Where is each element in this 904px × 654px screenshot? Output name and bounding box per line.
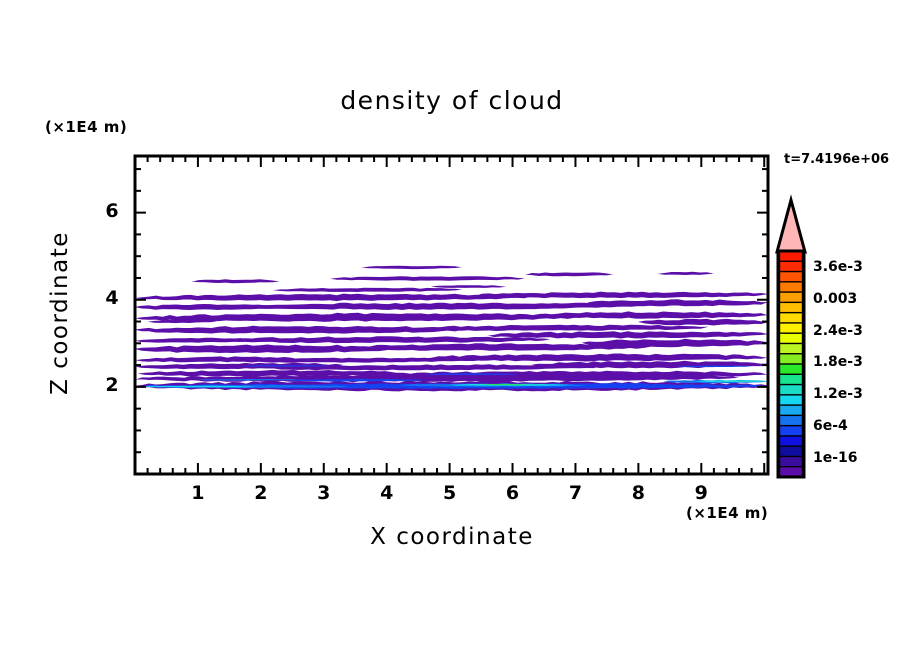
colorbar-band bbox=[780, 251, 803, 262]
x-tick-label: 8 bbox=[618, 482, 658, 504]
colorbar-band bbox=[780, 436, 803, 447]
x-tick-label: 2 bbox=[241, 482, 281, 504]
colorbar-label: 1.8e-3 bbox=[813, 354, 863, 370]
colorbar-arrow-icon bbox=[777, 200, 805, 252]
colorbar-label: 1.2e-3 bbox=[813, 386, 863, 402]
colorbar-band bbox=[780, 385, 803, 396]
colorbar bbox=[777, 200, 805, 478]
colorbar-band bbox=[780, 282, 803, 293]
colorbar-label: 1e-16 bbox=[813, 450, 858, 466]
colorbar-band bbox=[780, 343, 803, 354]
colorbar-band bbox=[780, 302, 803, 313]
colorbar-band bbox=[780, 395, 803, 406]
colorbar-band bbox=[780, 323, 803, 334]
x-tick-label: 9 bbox=[681, 482, 721, 504]
colorbar-band bbox=[780, 313, 803, 324]
colorbar-band bbox=[780, 292, 803, 303]
figure-canvas: density of cloud (×1E4 m) (×1E4 m) t=7.4… bbox=[0, 0, 904, 654]
colorbar-band bbox=[780, 364, 803, 375]
x-tick-label: 7 bbox=[555, 482, 595, 504]
colorbar-label: 0.003 bbox=[813, 291, 857, 307]
colorbar-band bbox=[780, 456, 803, 467]
y-tick-label: 4 bbox=[100, 287, 124, 309]
colorbar-band bbox=[780, 405, 803, 416]
y-tick-label: 6 bbox=[100, 200, 124, 222]
colorbar-band bbox=[780, 446, 803, 457]
x-tick-label: 1 bbox=[178, 482, 218, 504]
colorbar-label: 6e-4 bbox=[813, 418, 848, 434]
colorbar-band bbox=[780, 333, 803, 344]
x-tick-label: 4 bbox=[367, 482, 407, 504]
colorbar-band bbox=[780, 354, 803, 365]
plot-svg bbox=[0, 0, 904, 654]
colorbar-band bbox=[780, 272, 803, 283]
colorbar-band bbox=[780, 261, 803, 272]
colorbar-band bbox=[780, 374, 803, 385]
colorbar-band bbox=[780, 415, 803, 426]
colorbar-label: 2.4e-3 bbox=[813, 323, 863, 339]
y-tick-label: 2 bbox=[100, 374, 124, 396]
x-tick-label: 3 bbox=[304, 482, 344, 504]
colorbar-band bbox=[780, 426, 803, 437]
x-tick-label: 6 bbox=[493, 482, 533, 504]
x-tick-label: 5 bbox=[430, 482, 470, 504]
colorbar-label: 3.6e-3 bbox=[813, 259, 863, 275]
contour-field bbox=[135, 156, 768, 474]
